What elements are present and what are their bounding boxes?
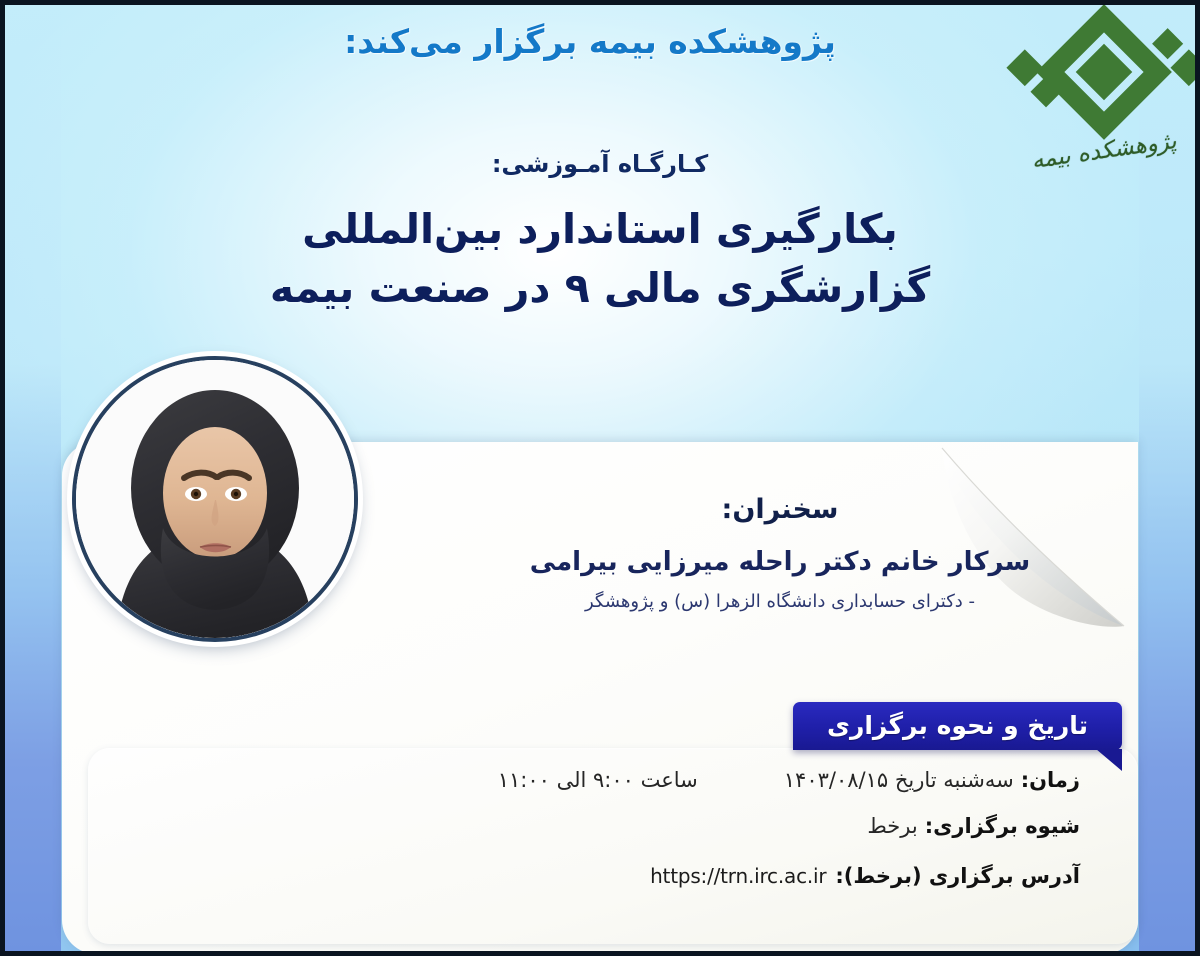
title-line-1: بکارگیری استاندارد بین‌المللی (250, 200, 950, 259)
organizer-header: پژوهشکده بیمه برگزار می‌کند: (310, 22, 870, 61)
logo-tab-top-right-2 (1152, 28, 1183, 59)
speaker-credential: - دکترای حسابداری دانشگاه الزهرا (س) و پ… (470, 591, 1090, 612)
time-hours: ساعت ۹:۰۰ الی ۱۱:۰۰ (498, 768, 698, 792)
time-value: سه‌شنبه تاریخ ۱۴۰۳/۰۸/۱۵ (784, 768, 1014, 792)
banner-label: تاریخ و نحوه برگزاری (793, 702, 1122, 750)
time-label: زمان: (1021, 768, 1080, 792)
detail-row-mode: شیوه برگزاری: برخط (146, 814, 1080, 838)
title-block: کـارگـاه آمـوزشی: بکارگیری استاندارد بین… (250, 150, 950, 319)
speaker-label: سخنران: (470, 494, 1090, 525)
event-details-card: زمان: سه‌شنبه تاریخ ۱۴۰۳/۰۸/۱۵ ساعت ۹:۰۰… (88, 748, 1138, 944)
left-blue-strip (5, 5, 61, 951)
detail-row-time: زمان: سه‌شنبه تاریخ ۱۴۰۳/۰۸/۱۵ ساعت ۹:۰۰… (146, 768, 1080, 792)
speaker-section: سخنران: سرکار خانم دکتر راحله میرزایی بی… (470, 494, 1090, 612)
speaker-avatar (72, 356, 358, 642)
title-line-2: گزارشگری مالی ۹ در صنعت بیمه (250, 259, 950, 318)
detail-row-address: آدرس برگزاری (برخط): https://trn.irc.ac.… (146, 864, 1080, 888)
event-poster: پژوهشکده بیمه برگزار می‌کند: پژوهشکده بی… (0, 0, 1200, 956)
banner-tail-shape (1096, 749, 1122, 771)
mode-label: شیوه برگزاری: (925, 814, 1080, 838)
event-url-link[interactable]: https://trn.irc.ac.ir (650, 864, 826, 888)
date-section-banner: تاریخ و نحوه برگزاری (793, 702, 1122, 750)
speaker-photo (76, 360, 354, 638)
mode-value: برخط (867, 814, 917, 838)
address-label: آدرس برگزاری (برخط): (835, 864, 1080, 888)
organization-logo: پژوهشکده بیمه (1020, 8, 1188, 208)
logo-tab-top-right (1170, 49, 1200, 86)
workshop-kicker: کـارگـاه آمـوزشی: (250, 150, 950, 178)
speaker-name: سرکار خانم دکتر راحله میرزایی بیرامی (470, 547, 1090, 577)
page-title: بکارگیری استاندارد بین‌المللی گزارشگری م… (250, 200, 950, 319)
